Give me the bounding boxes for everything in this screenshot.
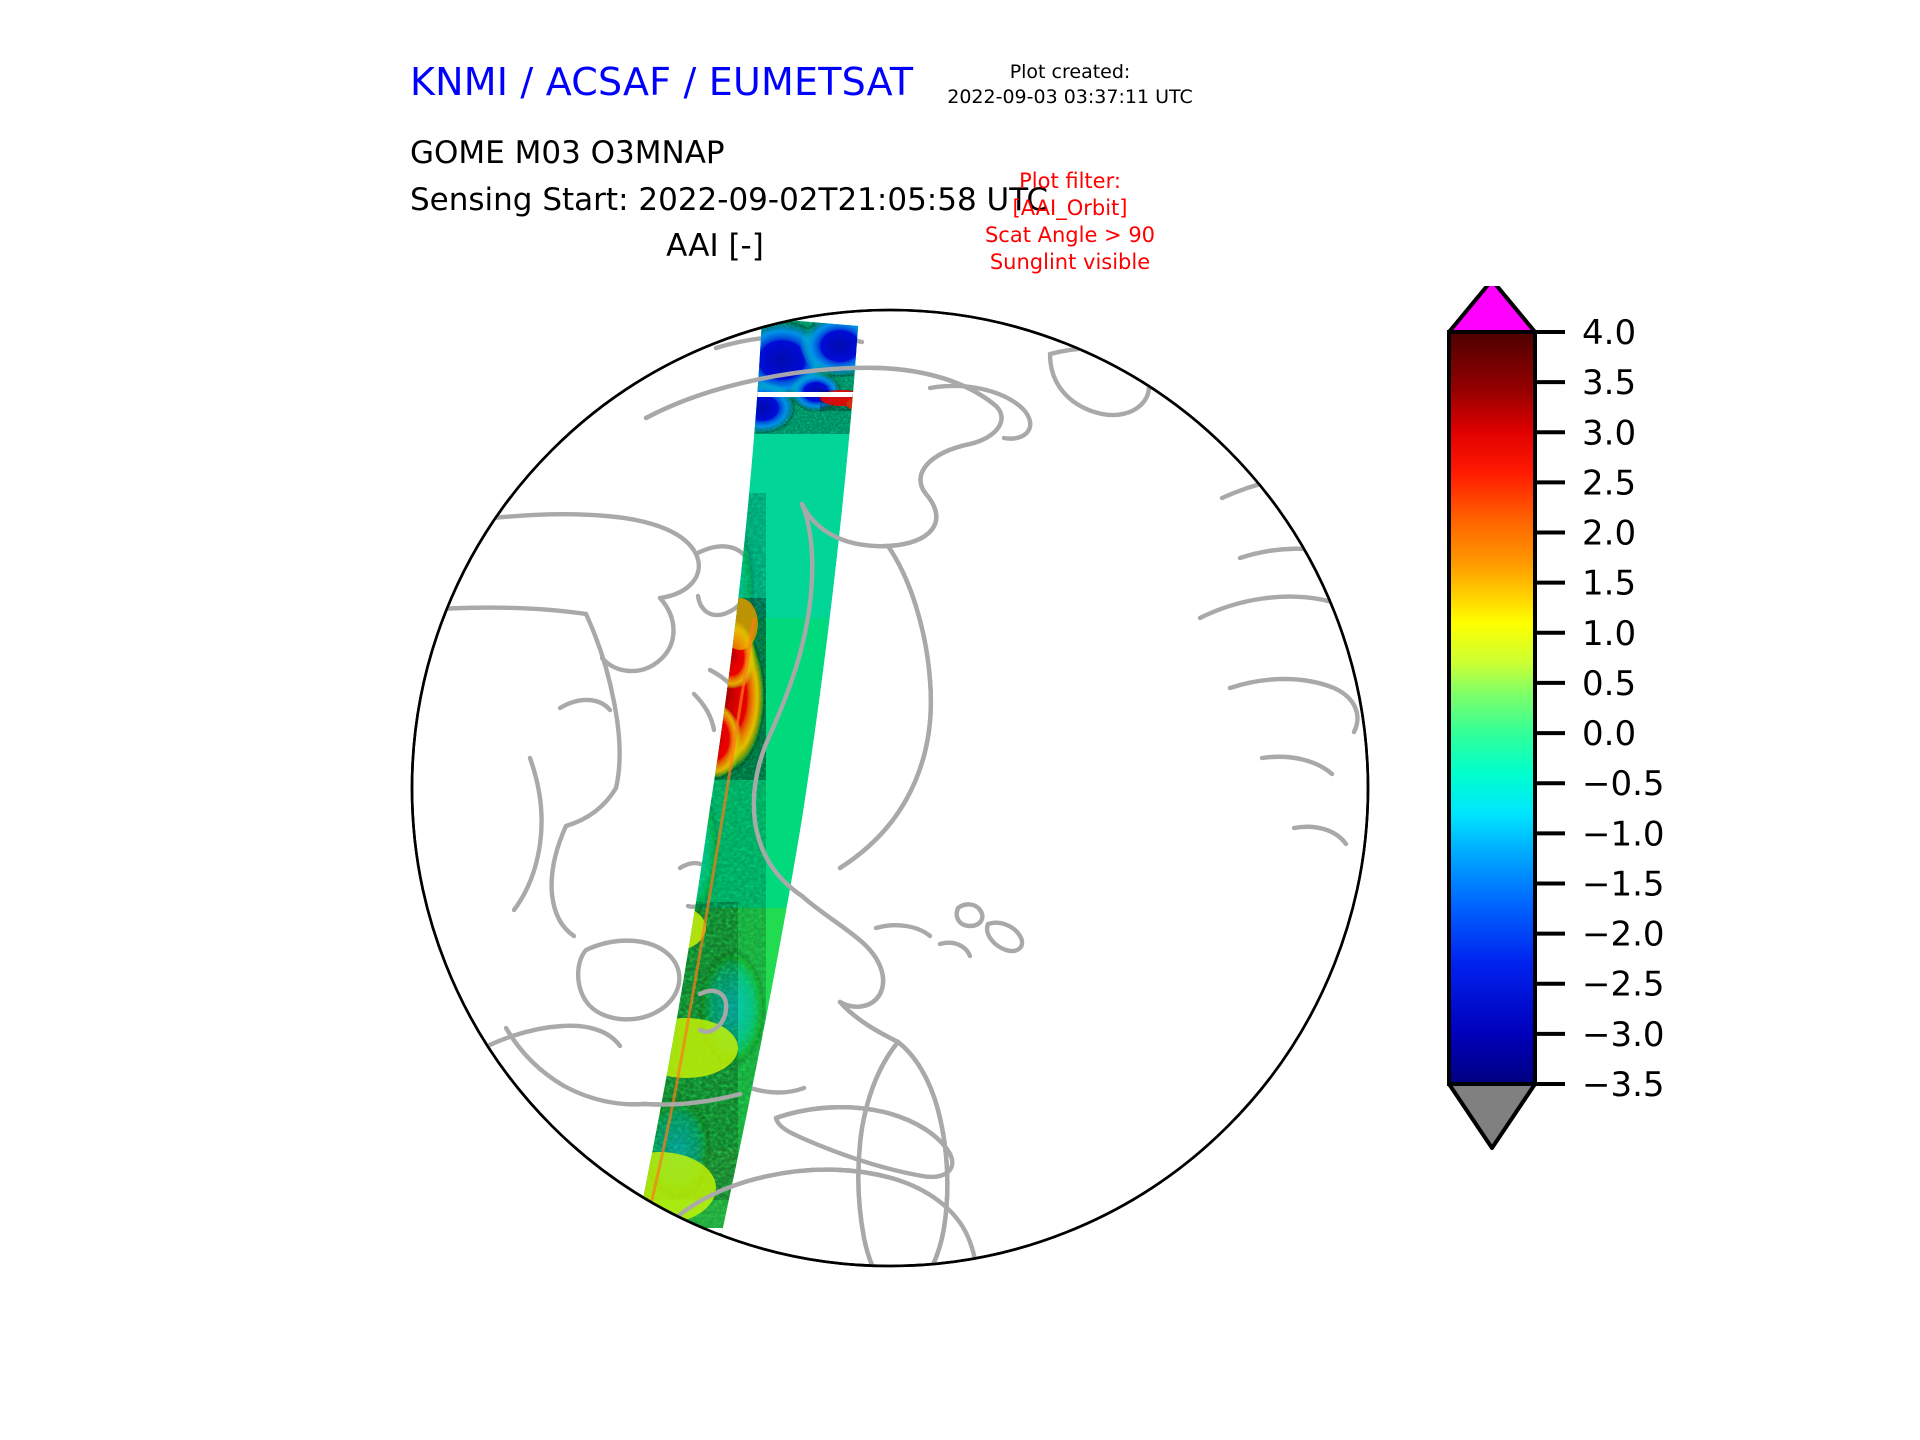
- colorbar-tick-label: −0.5: [1582, 764, 1665, 804]
- colorbar-tick-label: 1.5: [1582, 564, 1636, 604]
- plot-filter-name: [AAI_Orbit]: [910, 195, 1230, 222]
- colorbar-tick-label: 3.5: [1582, 363, 1636, 403]
- map-globe: [410, 288, 1370, 1288]
- colorbar-tick-label: 4.0: [1582, 313, 1636, 353]
- colorbar-ticks: 4.03.53.02.52.01.51.00.50.0−0.5−1.0−1.5−…: [1535, 313, 1665, 1105]
- colorbar-tick-label: −1.5: [1582, 864, 1665, 904]
- colorbar-tick-label: −1.0: [1582, 814, 1665, 854]
- colorbar-over-range-arrow: [1449, 286, 1535, 332]
- colorbar-tick-label: 1.0: [1582, 614, 1636, 654]
- colorbar-tick-label: 2.5: [1582, 463, 1636, 503]
- colorbar-tick-label: 0.0: [1582, 714, 1636, 754]
- plot-filter-label: Plot filter:: [910, 168, 1230, 195]
- colorbar-tick-label: 2.0: [1582, 514, 1636, 554]
- product-name-line: GOME M03 O3MNAP: [410, 135, 725, 171]
- colorbar-tick-label: 3.0: [1582, 413, 1636, 453]
- plot-filter-condition: Scat Angle > 90: [910, 222, 1230, 249]
- colorbar-svg: 4.03.53.02.52.01.51.00.50.0−0.5−1.0−1.5−…: [1440, 286, 1840, 1296]
- plot-created-timestamp: 2022-09-03 03:37:11 UTC: [910, 85, 1230, 110]
- colorbar-under-range-arrow: [1449, 1084, 1535, 1148]
- plot-created-label: Plot created:: [910, 60, 1230, 85]
- colorbar-tick-label: −2.0: [1582, 915, 1665, 955]
- plot-created-block: Plot created: 2022-09-03 03:37:11 UTC: [910, 60, 1230, 110]
- colorbar-tick-label: −3.0: [1582, 1015, 1665, 1055]
- globe-svg: [410, 288, 1370, 1288]
- plot-filter-block: Plot filter: [AAI_Orbit] Scat Angle > 90…: [910, 168, 1230, 276]
- colorbar: 4.03.53.02.52.01.51.00.50.0−0.5−1.0−1.5−…: [1440, 286, 1840, 1296]
- colorbar-tick-label: −3.5: [1582, 1065, 1665, 1105]
- colorbar-tick-label: −2.5: [1582, 965, 1665, 1005]
- organisation-title: KNMI / ACSAF / EUMETSAT: [410, 60, 913, 104]
- plot-filter-note: Sunglint visible: [910, 249, 1230, 276]
- globe-outline-circle: [412, 310, 1368, 1266]
- colorbar-tick-label: 0.5: [1582, 664, 1636, 704]
- colorbar-gradient: [1449, 332, 1535, 1084]
